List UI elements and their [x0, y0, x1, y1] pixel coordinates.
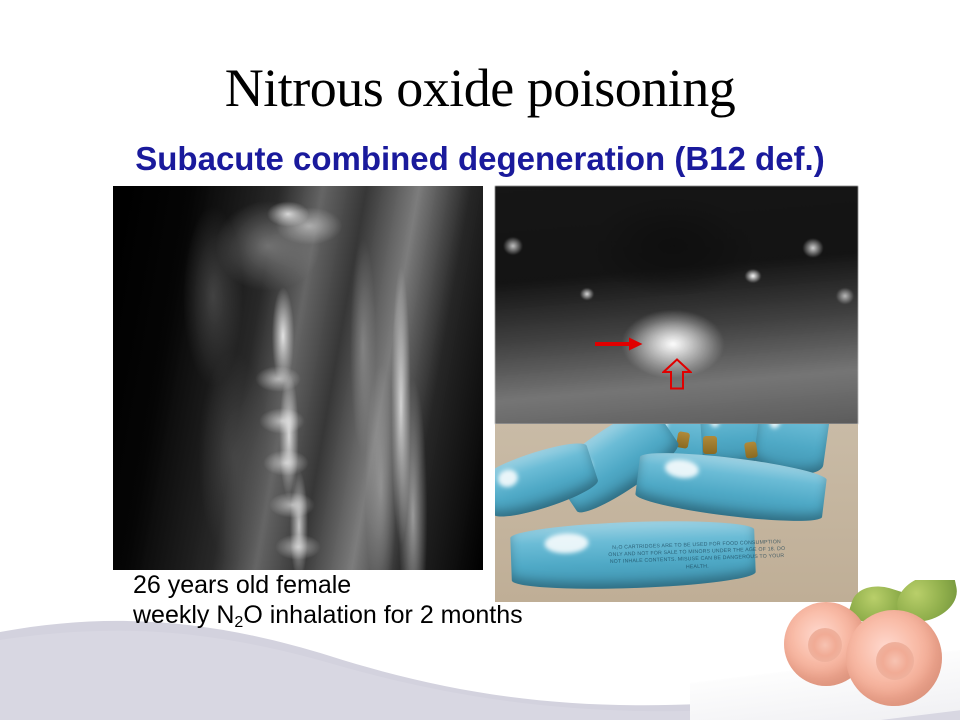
vertebra-marker [259, 408, 305, 434]
rose-leaf [892, 580, 960, 626]
slide: Nitrous oxide poisoning Subacute combine… [0, 0, 960, 720]
page-title: Nitrous oxide poisoning [0, 58, 960, 118]
caption-line-2: weekly N2O inhalation for 2 months [133, 600, 523, 634]
rose-center [808, 628, 842, 662]
vertebra-marker [269, 492, 315, 518]
red-solid-arrow [595, 337, 643, 351]
case-caption: 26 years old female weekly N2O inhalatio… [133, 570, 523, 634]
canister-neck [744, 441, 758, 459]
rose-bloom [846, 610, 942, 706]
sheet-music [690, 648, 960, 720]
rose-center [876, 642, 914, 680]
red-hollow-arrow [662, 358, 692, 390]
n2o-canister-labeled [510, 518, 756, 592]
caption-line-2-before: weekly N [133, 601, 234, 629]
sagittal-cervical-spine-mri [113, 186, 483, 570]
vertebra-marker [255, 366, 301, 392]
slide-subtitle: Subacute combined degeneration (B12 def.… [0, 140, 960, 178]
nitrous-oxide-cartridges-photo: N₂O CARTRIDGES ARE TO BE USED FOR FOOD C… [495, 424, 858, 602]
vertebra-marker [275, 534, 321, 560]
caption-subscript: 2 [234, 614, 243, 631]
caption-line-1: 26 years old female [133, 570, 523, 600]
rose-bloom [784, 602, 868, 686]
vertebra-marker [263, 450, 309, 476]
caption-line-2-after: O inhalation for 2 months [243, 601, 522, 629]
canister-neck [703, 436, 717, 454]
